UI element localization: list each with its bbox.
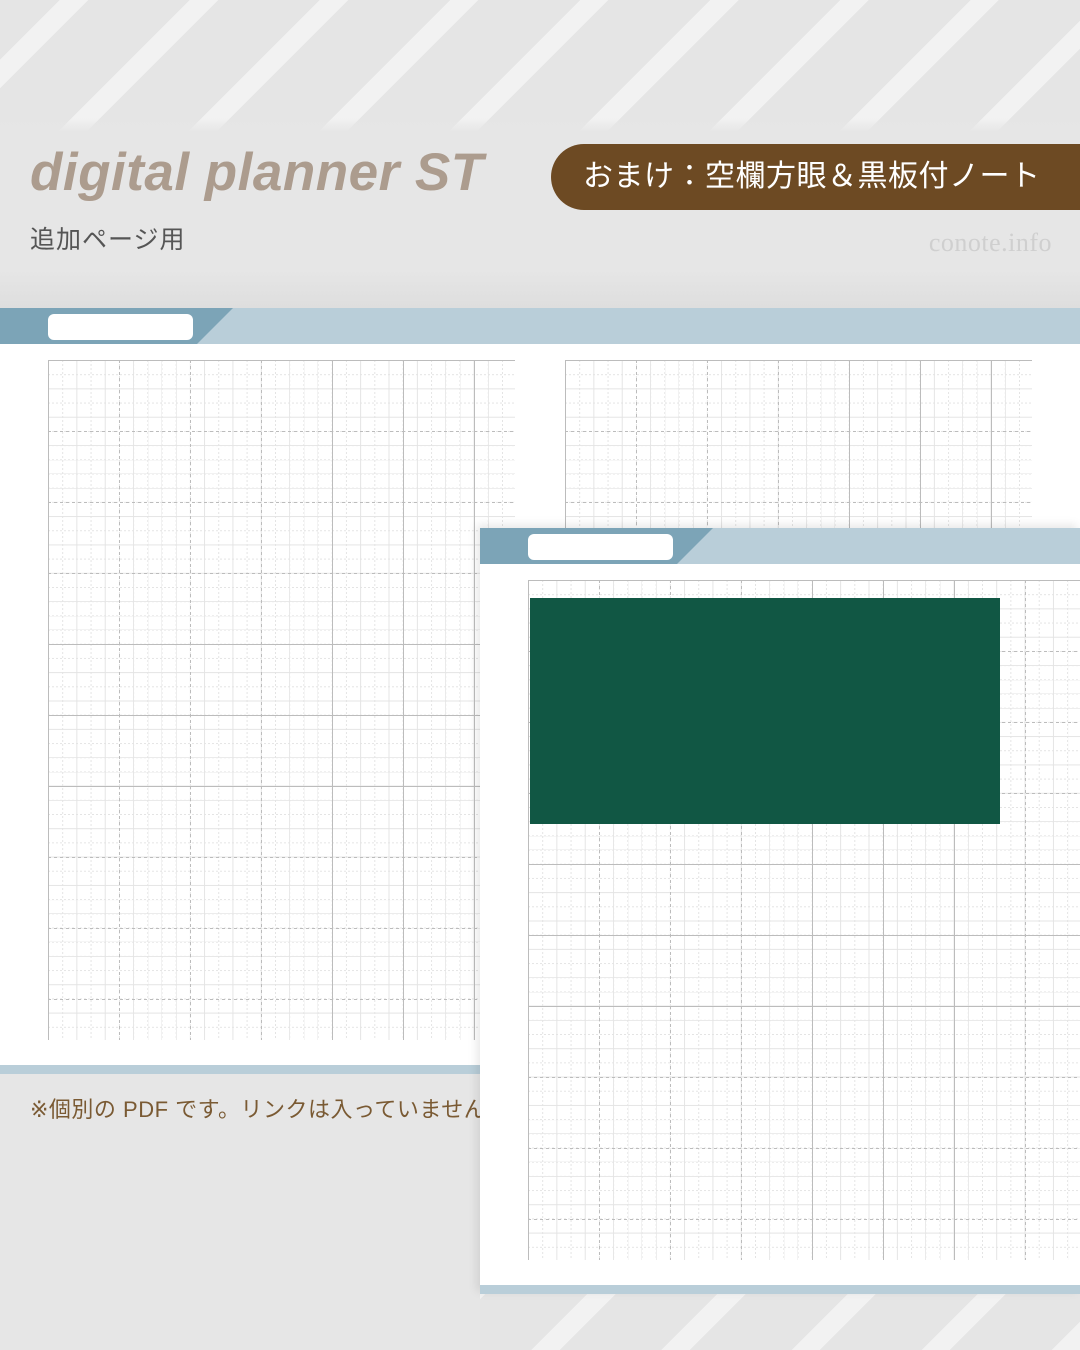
page-title: digital planner ST — [30, 146, 484, 199]
page-footer-bar — [0, 1065, 480, 1074]
grid-area[interactable] — [48, 360, 480, 1040]
page-header-bar — [0, 308, 480, 344]
page-header-bar — [480, 528, 1080, 564]
pdf-note-text: ※個別の PDF です。リンクは入っていません。 — [30, 1095, 480, 1126]
blackboard-area[interactable] — [530, 598, 1000, 824]
status-badge-label: おまけ：空欄方眼＆黒板付ノート — [583, 162, 1041, 192]
page-title-field[interactable] — [528, 534, 673, 560]
page-footer-bar — [480, 1285, 1080, 1294]
grid-major-lines — [48, 360, 480, 1040]
page-subtitle: 追加ページ用 — [30, 228, 186, 253]
status-badge: おまけ：空欄方眼＆黒板付ノート — [551, 144, 1080, 210]
header-banner: digital planner ST 追加ページ用 おまけ：空欄方眼＆黒板付ノー… — [0, 0, 1080, 308]
grid-minor-lines — [48, 360, 480, 1040]
blank-grid-page[interactable] — [0, 308, 480, 1074]
blackboard-note-page[interactable] — [480, 528, 1080, 1294]
site-url-watermark: conote.info — [929, 230, 1052, 256]
page-title-field[interactable] — [48, 314, 193, 340]
